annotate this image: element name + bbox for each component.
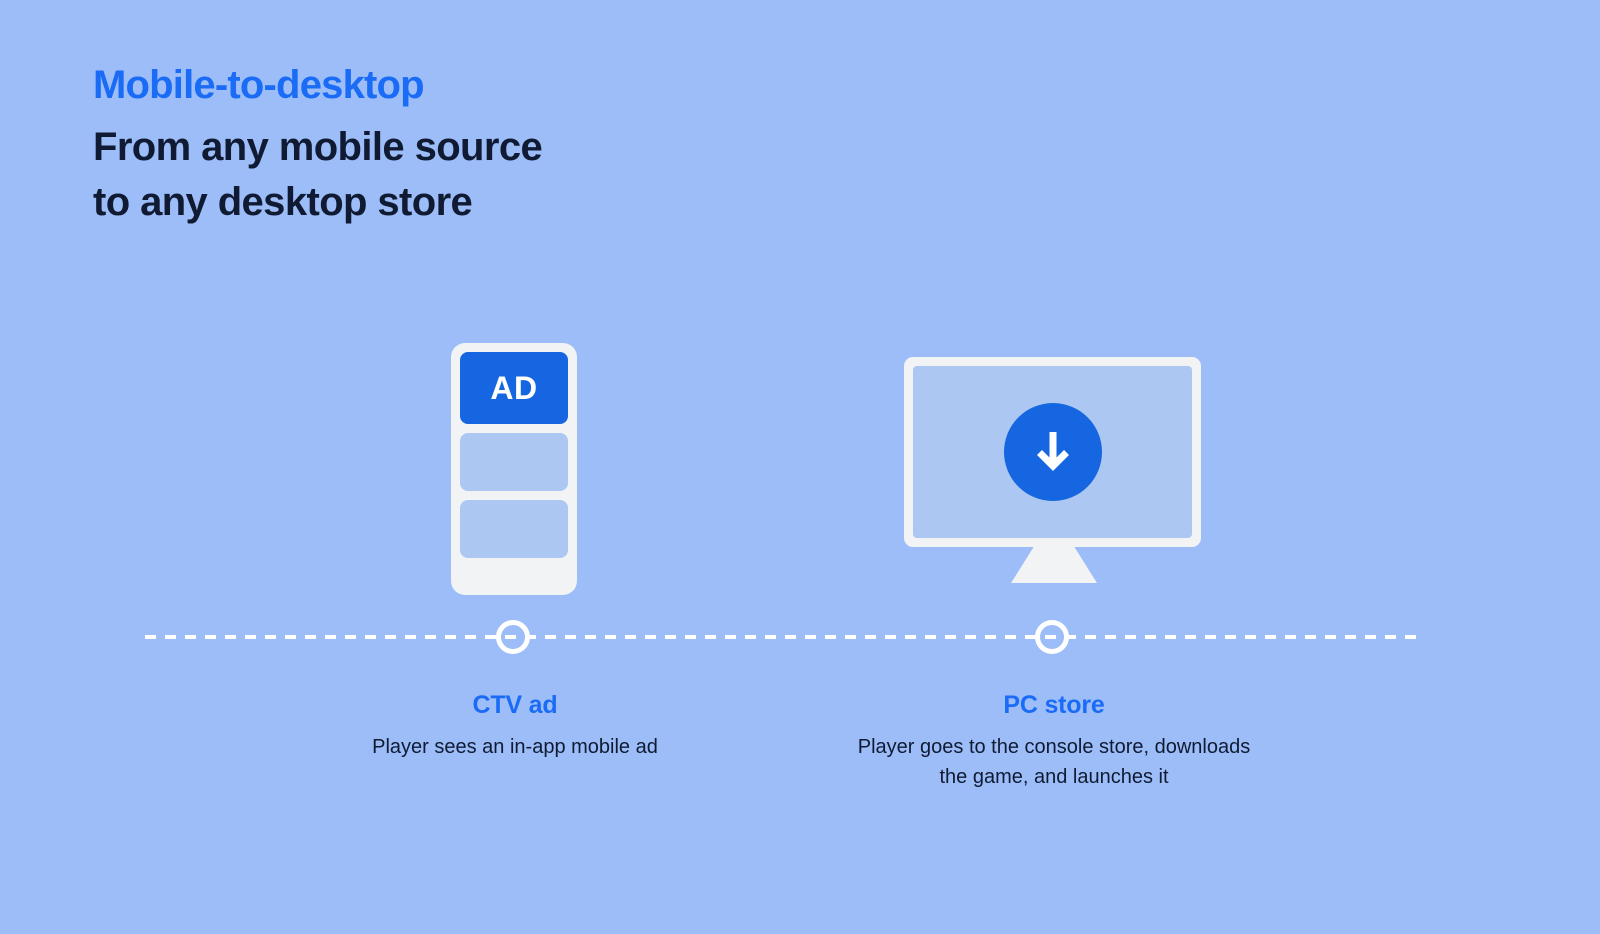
phone-ad-banner: AD xyxy=(460,352,568,424)
step-title: CTV ad xyxy=(355,690,675,720)
phone-mockup: AD xyxy=(451,343,577,595)
monitor-screen xyxy=(913,366,1192,538)
step-title: PC store xyxy=(854,690,1254,720)
monitor-mockup xyxy=(904,357,1201,547)
monitor-stand xyxy=(1011,546,1097,583)
timeline-node-pc-store[interactable] xyxy=(1035,620,1069,654)
step-caption-pc-store: PC store Player goes to the console stor… xyxy=(854,690,1254,793)
page-title: From any mobile source to any desktop st… xyxy=(93,120,913,230)
headline-line-2: to any desktop store xyxy=(93,175,913,230)
step-description: Player sees an in-app mobile ad xyxy=(355,732,675,762)
phone-content-block xyxy=(460,433,568,491)
infographic-canvas: Mobile-to-desktop From any mobile source… xyxy=(0,0,1600,934)
timeline-node-ctv-ad[interactable] xyxy=(496,620,530,654)
step-caption-ctv-ad: CTV ad Player sees an in-app mobile ad xyxy=(355,690,675,762)
headline-line-1: From any mobile source xyxy=(93,120,913,175)
heading-block: Mobile-to-desktop From any mobile source… xyxy=(93,61,913,230)
download-arrow-icon xyxy=(1004,403,1102,501)
timeline-track xyxy=(145,635,1425,639)
step-description: Player goes to the console store, downlo… xyxy=(854,732,1254,793)
phone-content-block xyxy=(460,500,568,558)
ad-label: AD xyxy=(490,372,537,404)
eyebrow-label: Mobile-to-desktop xyxy=(93,61,913,110)
